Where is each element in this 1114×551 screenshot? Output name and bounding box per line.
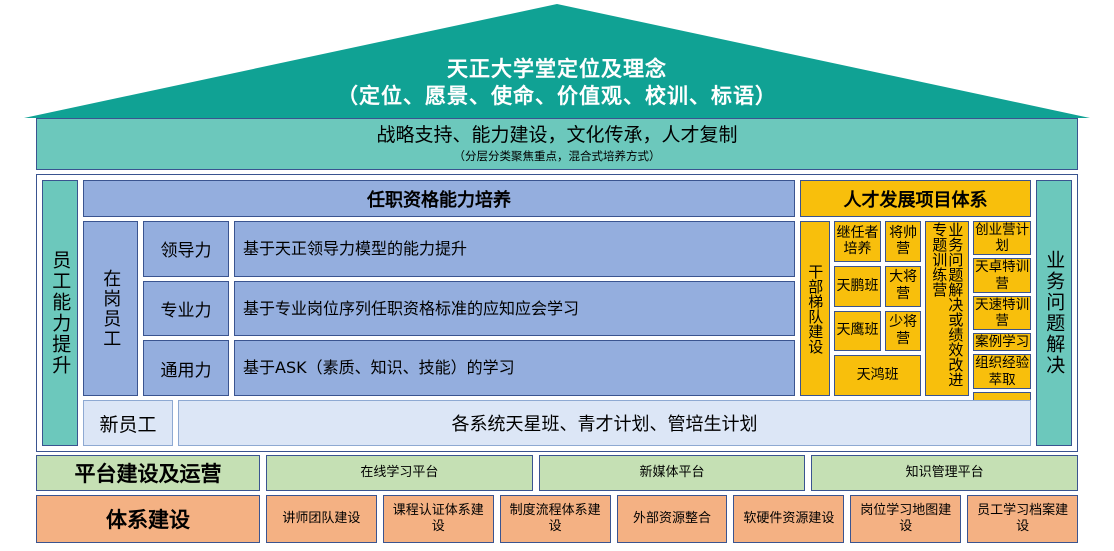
system-tag: 体系建设 [36,495,260,543]
camp-item-case-study[interactable]: 案例学习 [973,333,1031,351]
cadre-ladder-grid: 继任者培养 将帅营 天鹏班 大将营 天鹰班 少将营 [834,221,921,396]
system-item-hardware-software[interactable]: 软硬件资源建设 [733,495,844,543]
qualification-body: 在岗员工 领导力 专业力 通用力 基于天正领导力模型的能力提升 基于专业岗位序列… [83,221,795,396]
qualification-group-label: 在岗员工 [83,221,138,396]
competency-column: 领导力 专业力 通用力 [143,221,229,396]
ladder-item-tianying[interactable]: 天鹰班 [834,311,881,352]
roof-title-line1: 天正大学堂定位及理念 [447,56,667,82]
camp-item-tianzhuo[interactable]: 天卓特训营 [973,258,1031,292]
mission-band-secondary: （分层分类聚焦重点，混合式培养方式） [454,149,661,164]
mission-band: 战略支持、能力建设，文化传承，人才复制 （分层分类聚焦重点，混合式培养方式） [36,118,1078,170]
platform-item-online-learning[interactable]: 在线学习平台 [266,455,533,491]
platform-tag: 平台建设及运营 [36,455,260,491]
system-item-course-certification[interactable]: 课程认证体系建设 [383,495,494,543]
competency-description-general: 基于ASK（素质、知识、技能）的学习 [234,340,795,396]
ladder-row: 天鹰班 少将营 [834,311,921,352]
talent-development-header: 人才发展项目体系 [800,180,1031,217]
camp-item-tiansu[interactable]: 天速特训营 [973,296,1031,330]
new-employee-programs: 各系统天星班、青才计划、管培生计划 [178,400,1031,446]
left-rail-employee-capability: 员工能力提升 [42,180,78,446]
system-item-process-system[interactable]: 制度流程体系建设 [500,495,611,543]
competency-general[interactable]: 通用力 [143,340,229,396]
ladder-row: 继任者培养 将帅营 [834,221,921,262]
ladder-item-tianhong[interactable]: 天鸿班 [834,355,921,396]
ladder-item-minor-camp[interactable]: 少将营 [885,311,921,352]
camp-item-experience-extraction[interactable]: 组织经验萃取 [973,354,1031,388]
main-frame: 员工能力提升 任职资格能力培养 在岗员工 领导力 专业力 通用力 基于天正领导力 [36,174,1078,452]
ladder-item-major-camp[interactable]: 大将营 [885,266,921,307]
competency-description-leadership: 基于天正领导力模型的能力提升 [234,221,795,277]
system-row: 体系建设 讲师团队建设 课程认证体系建设 制度流程体系建设 外部资源整合 软硬件… [36,495,1078,543]
system-item-external-resources[interactable]: 外部资源整合 [617,495,728,543]
ladder-row: 天鹏班 大将营 [834,266,921,307]
right-rail-business-problem: 业务问题解决 [1036,180,1072,446]
mission-band-primary: 战略支持、能力建设，文化传承，人才复制 [376,124,737,148]
competency-professional[interactable]: 专业力 [143,281,229,337]
platform-item-knowledge-management[interactable]: 知识管理平台 [811,455,1078,491]
ladder-item-successor[interactable]: 继任者培养 [834,221,881,262]
competency-leadership[interactable]: 领导力 [143,221,229,277]
system-item-learning-map[interactable]: 岗位学习地图建设 [850,495,961,543]
main-center: 任职资格能力培养 在岗员工 领导力 专业力 通用力 基于天正领导力模型的能力提升… [83,180,1031,446]
platform-row: 平台建设及运营 在线学习平台 新媒体平台 知识管理平台 [36,455,1078,491]
qualification-block: 任职资格能力培养 在岗员工 领导力 专业力 通用力 基于天正领导力模型的能力提升… [83,180,795,396]
system-item-trainer-team[interactable]: 讲师团队建设 [266,495,377,543]
competency-description-column: 基于天正领导力模型的能力提升 基于专业岗位序列任职资格标准的应知应会学习 基于A… [234,221,795,396]
camp-item-startup-plan[interactable]: 创业营计划 [973,221,1031,255]
talent-development-body: 干部梯队建设 继任者培养 将帅营 天鹏班 大将营 天鹰班 [800,221,1031,396]
main-top-row: 任职资格能力培养 在岗员工 领导力 专业力 通用力 基于天正领导力模型的能力提升… [83,180,1031,396]
ladder-row-full: 天鸿班 [834,355,921,396]
talent-development-block: 人才发展项目体系 干部梯队建设 继任者培养 将帅营 天鹏班 大将营 [800,180,1031,396]
qualification-header: 任职资格能力培养 [83,180,795,217]
business-problem-camp-label: 业务问题解决或绩效改进专题训练营 [925,221,969,396]
new-employee-tag: 新员工 [83,400,173,446]
roof-title-line2: （定位、愿景、使命、价值观、校训、标语） [337,83,777,110]
cadre-ladder-label: 干部梯队建设 [800,221,830,396]
new-employee-row: 新员工 各系统天星班、青才计划、管培生计划 [83,400,1031,446]
roof-banner: 天正大学堂定位及理念 （定位、愿景、使命、价值观、校训、标语） [24,4,1090,118]
competency-description-professional: 基于专业岗位序列任职资格标准的应知应会学习 [234,281,795,337]
system-item-learning-records[interactable]: 员工学习档案建设 [967,495,1078,543]
ladder-item-general-camp[interactable]: 将帅营 [885,221,921,262]
platform-item-new-media[interactable]: 新媒体平台 [539,455,806,491]
org-framework-diagram: 天正大学堂定位及理念 （定位、愿景、使命、价值观、校训、标语） 战略支持、能力建… [0,0,1114,551]
ladder-item-tianpeng[interactable]: 天鹏班 [834,266,881,307]
business-camp-items: 创业营计划 天卓特训营 天速特训营 案例学习 组织经验萃取 …… [973,221,1031,396]
